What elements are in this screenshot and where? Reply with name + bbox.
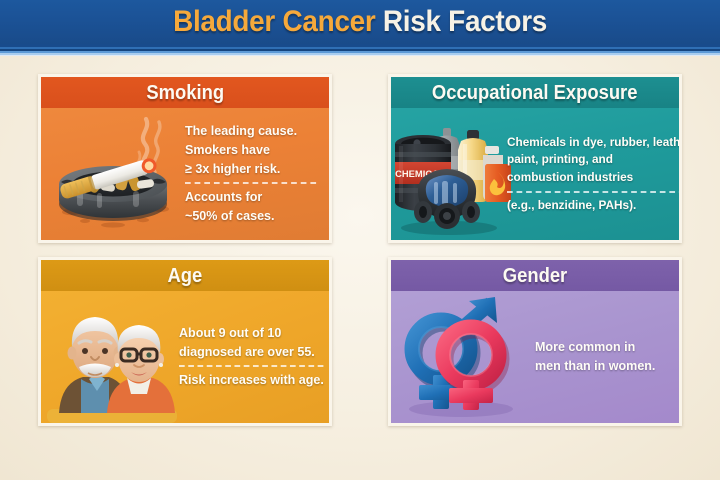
text-divider: [507, 191, 682, 193]
text-divider: [185, 182, 316, 184]
occupational-line-4: (e.g., benzidine, PAHs).: [507, 197, 682, 215]
ashtray-with-cigarette-icon: [41, 108, 191, 240]
card-title-gender: Gender: [503, 266, 567, 286]
smoking-line-4: Accounts for: [185, 188, 316, 207]
card-title-smoking: Smoking: [146, 83, 224, 103]
card-body-age: About 9 out of 10 diagnosed are over 55.…: [41, 291, 329, 423]
age-line-3: Risk increases with age.: [179, 371, 324, 390]
card-header-occupational: Occupational Exposure: [391, 77, 679, 108]
card-body-gender: More common in men than in women.: [391, 291, 679, 423]
age-line-2: diagnosed are over 55.: [179, 343, 324, 362]
card-title-occupational: Occupational Exposure: [432, 83, 638, 103]
smoking-line-2: Smokers have: [185, 141, 316, 160]
occupational-line-2: paint, printing, and: [507, 151, 682, 169]
page-title-primary: Bladder Cancer: [173, 5, 375, 38]
card-header-age: Age: [41, 260, 329, 291]
card-header-gender: Gender: [391, 260, 679, 291]
text-divider: [179, 365, 324, 367]
risk-factor-card-gender[interactable]: Gender: [388, 257, 682, 426]
gender-line-2: men than in women.: [535, 357, 666, 376]
card-text-age: About 9 out of 10 diagnosed are over 55.…: [179, 324, 330, 390]
infographic-root: Bladder Cancer Risk Factors Smoking: [0, 0, 720, 480]
card-header-smoking: Smoking: [41, 77, 329, 108]
page-title: Bladder Cancer Risk Factors: [173, 7, 547, 37]
smoking-line-1: The leading cause.: [185, 122, 316, 141]
card-body-smoking: The leading cause. Smokers have ≥ 3x hig…: [41, 108, 329, 240]
page-title-secondary: Risk Factors: [383, 5, 547, 38]
card-title-age: Age: [168, 266, 203, 286]
occupational-line-1: Chemicals in dye, rubber, leather,: [507, 134, 682, 152]
chemical-drum-gas-mask-icon: CHEMICALS: [391, 108, 511, 240]
risk-factor-card-age[interactable]: Age: [38, 257, 332, 426]
card-text-smoking: The leading cause. Smokers have ≥ 3x hig…: [185, 122, 322, 226]
male-female-symbols-icon: [391, 291, 531, 423]
risk-factor-card-occupational-exposure[interactable]: Occupational Exposure: [388, 74, 682, 243]
elderly-couple-icon: [41, 291, 183, 423]
smoking-line-3: ≥ 3x higher risk.: [185, 160, 316, 179]
banner-stripe-divider: [0, 44, 720, 56]
card-body-occupational: CHEMICALS: [391, 108, 679, 240]
risk-factor-card-smoking[interactable]: Smoking: [38, 74, 332, 243]
smoking-line-5: ~50% of cases.: [185, 207, 316, 226]
card-text-gender: More common in men than in women.: [535, 338, 672, 375]
occupational-line-3: combustion industries: [507, 169, 682, 187]
risk-factor-card-grid: Smoking: [38, 74, 682, 426]
gender-line-1: More common in: [535, 338, 666, 357]
card-text-occupational: Chemicals in dye, rubber, leather, paint…: [507, 134, 682, 214]
header-banner: Bladder Cancer Risk Factors: [0, 0, 720, 44]
age-line-1: About 9 out of 10: [179, 324, 324, 343]
